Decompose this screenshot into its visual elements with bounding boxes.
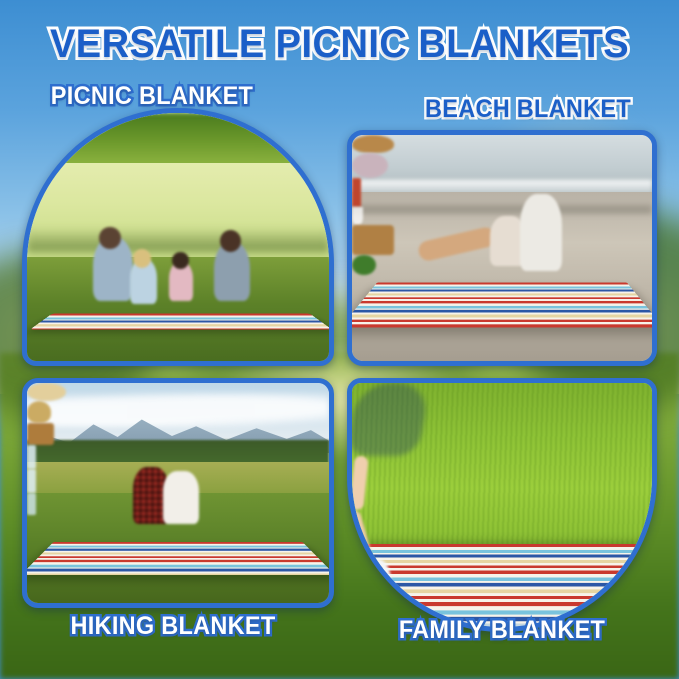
beach-man: [520, 194, 562, 271]
panel-beach-blanket: [347, 130, 657, 366]
panel-hiking-blanket: [22, 378, 334, 608]
panel-picnic-blanket: [22, 108, 334, 366]
picnic-child-one-head: [133, 249, 151, 268]
beach-watermelon: [352, 255, 376, 275]
picnic-basket: [27, 113, 66, 148]
family-toddler-body: [352, 559, 391, 622]
family-striped-blanket: [352, 544, 652, 623]
picnic-father-head: [99, 227, 120, 249]
caption-hiking-blanket: HIKING BLANKET: [37, 612, 310, 641]
beach-straw-hat: [352, 135, 394, 153]
beach-wine-bottle: [352, 178, 361, 207]
hiking-water-bottle-left: [27, 445, 36, 469]
hiking-person-hair: [27, 401, 51, 423]
caption-beach-blanket: BEACH BLANKET: [408, 95, 649, 124]
beach-wine-glass: [352, 207, 363, 225]
picnic-shadow-band: [27, 227, 329, 252]
caption-picnic-blanket: PICNIC BLANKET: [30, 82, 274, 111]
hiking-straw-hat: [27, 383, 66, 401]
panel-family-blanket: [347, 378, 657, 632]
photo-family-scene: [352, 383, 652, 627]
hiking-clouds: [27, 392, 329, 427]
hiking-water-bottle-center: [27, 469, 36, 493]
beach-picnic-basket: [352, 225, 394, 254]
beach-flower-vase: [352, 153, 388, 178]
photo-beach-scene: [352, 135, 652, 361]
caption-family-blanket: FAMILY BLANKET: [361, 616, 643, 645]
beach-wet-sand-line: [352, 205, 652, 214]
hiking-water-bottle-right: [27, 493, 36, 515]
beach-striped-blanket: [352, 283, 652, 328]
hiking-picnic-basket: [27, 423, 54, 445]
page-title: VERSATILE PICNIC BLANKETS: [17, 22, 662, 67]
hiking-person-white-top: [163, 471, 199, 524]
picnic-child-two-head: [172, 252, 189, 269]
photo-hiking-scene: [27, 383, 329, 603]
hiking-striped-blanket: [27, 542, 329, 575]
photo-picnic-scene: [27, 113, 329, 361]
picnic-striped-blanket: [30, 314, 329, 330]
